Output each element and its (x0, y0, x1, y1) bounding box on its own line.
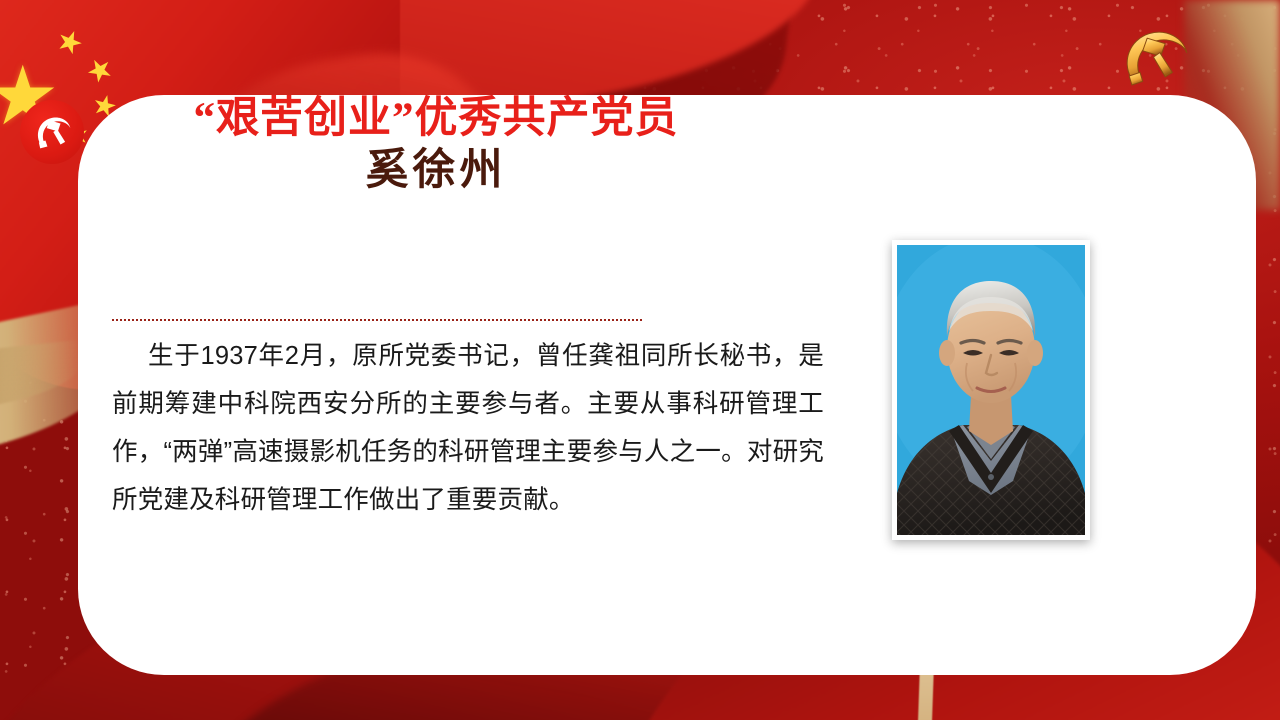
portrait-image (897, 245, 1085, 535)
slide-root: ★ ★ ★ ★ ★ (0, 0, 1280, 720)
title-divider (112, 319, 642, 321)
header: “艰苦创业”优秀共产党员 奚徐州 (20, 94, 780, 197)
page-title-name: 奚徐州 (98, 146, 774, 197)
title-block: “艰苦创业”优秀共产党员 奚徐州 (98, 94, 780, 197)
hammer-sickle-icon (20, 100, 84, 164)
portrait-photo (892, 240, 1090, 540)
hammer-sickle-gold-icon (1112, 22, 1204, 94)
title-row: “艰苦创业”优秀共产党员 奚徐州 (20, 94, 780, 197)
biography-text: 生于1937年2月，原所党委书记，曾任龚祖同所长秘书，是前期筹建中科院西安分所的… (112, 332, 824, 524)
page-title-line1: “艰苦创业”优秀共产党员 (98, 94, 774, 144)
